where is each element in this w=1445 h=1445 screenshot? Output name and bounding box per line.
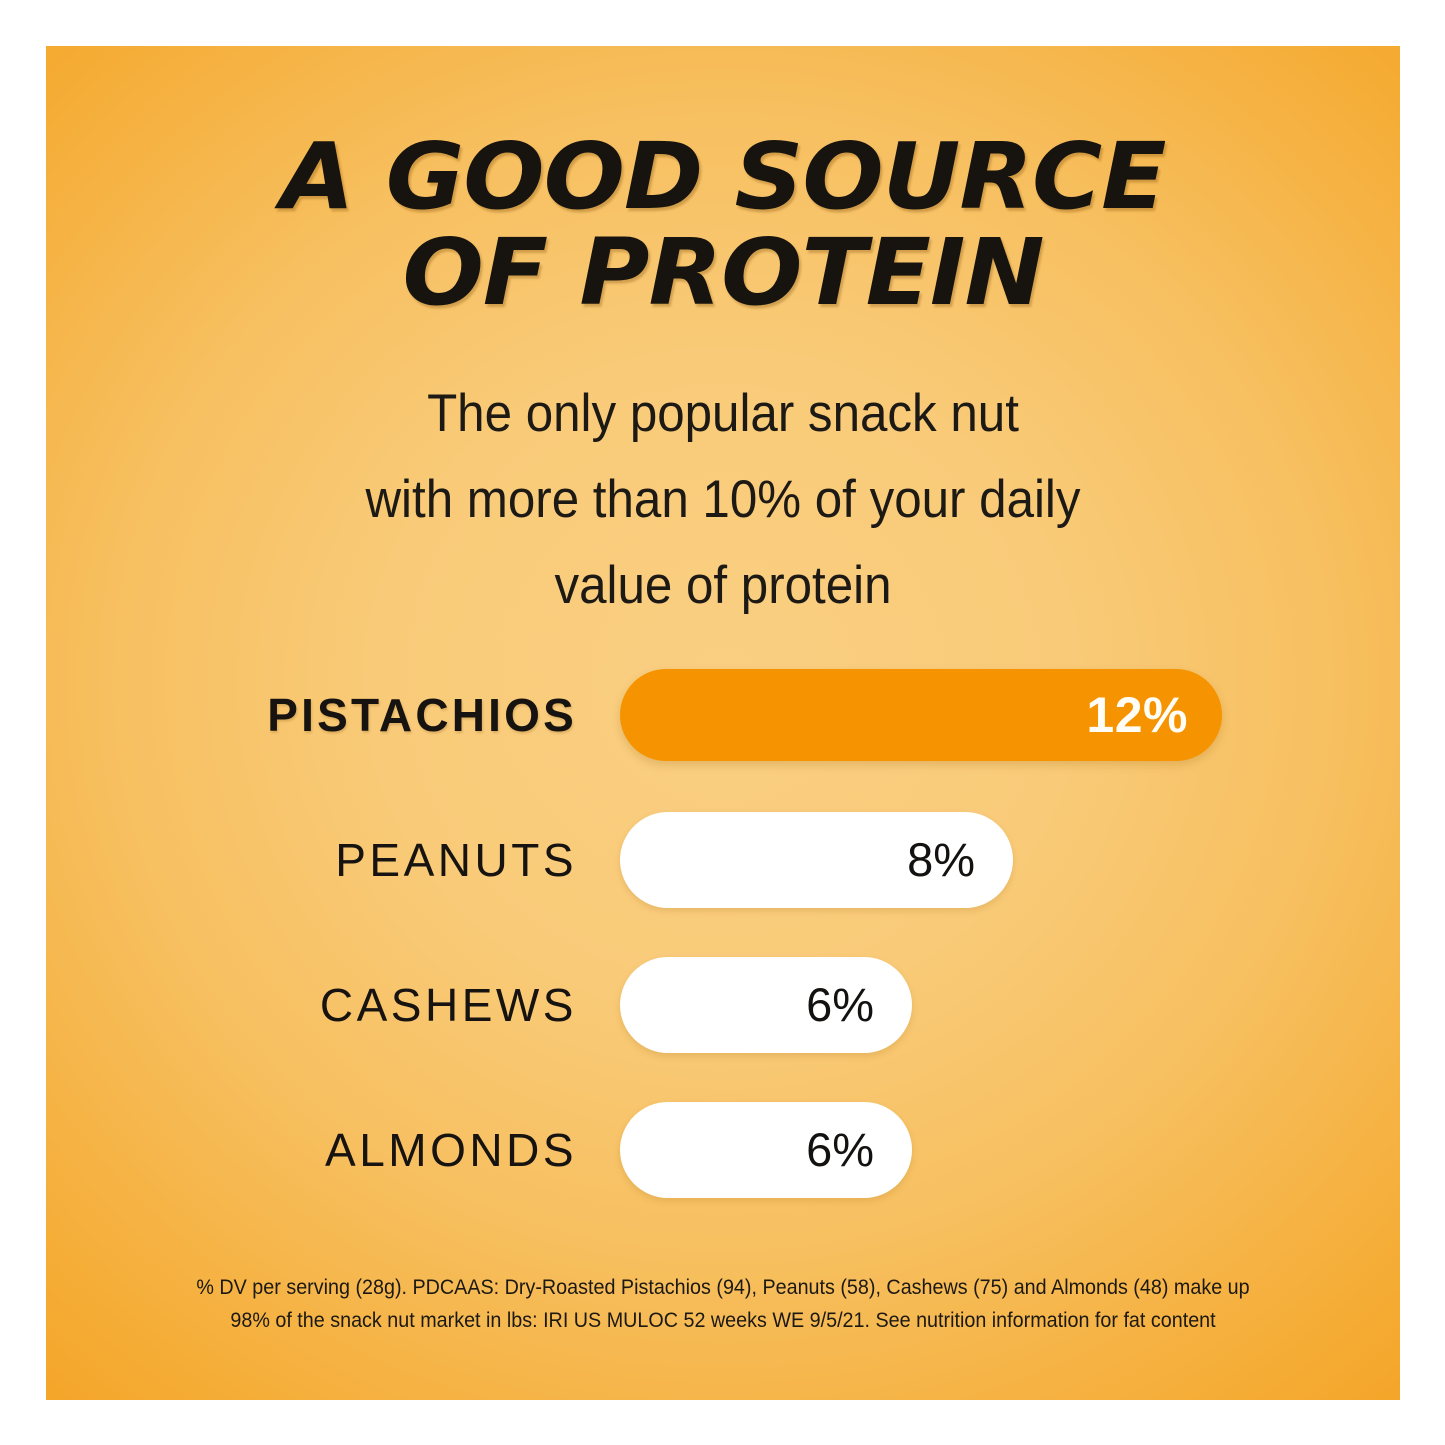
bar-row: ALMONDS 6% (46, 1077, 1400, 1222)
subtitle-line-2: with more than 10% of your daily (93, 457, 1352, 543)
bar-row: CASHEWS 6% (46, 932, 1400, 1077)
bar-label-pistachios: PISTACHIOS (46, 688, 577, 742)
title-line-1: A GOOD SOURCE (46, 129, 1400, 225)
title-line-2: OF PROTEIN (46, 225, 1400, 321)
bar-track-almonds: 6% (620, 1102, 912, 1198)
subtitle-line-1: The only popular snack nut (93, 371, 1352, 457)
footnote: % DV per serving (28g). PDCAAS: Dry-Roas… (46, 1271, 1400, 1337)
bar-track-peanuts: 8% (620, 812, 1013, 908)
bar-label-almonds: ALMONDS (46, 1123, 577, 1177)
bar-row: PISTACHIOS 12% (46, 642, 1400, 787)
bar-label-cashews: CASHEWS (46, 978, 577, 1032)
page-title: A GOOD SOURCE OF PROTEIN (46, 129, 1400, 321)
bar-value-peanuts: 8% (907, 832, 1013, 887)
bar-track-pistachios: 12% (620, 669, 1222, 761)
footnote-line-1: % DV per serving (28g). PDCAAS: Dry-Roas… (87, 1271, 1360, 1304)
bar-value-pistachios: 12% (1086, 686, 1222, 744)
bar-label-peanuts: PEANUTS (46, 833, 577, 887)
bar-value-almonds: 6% (806, 1122, 912, 1177)
orange-panel: A GOOD SOURCE OF PROTEIN The only popula… (46, 46, 1400, 1400)
bar-row: PEANUTS 8% (46, 787, 1400, 932)
infographic-canvas: A GOOD SOURCE OF PROTEIN The only popula… (0, 0, 1445, 1445)
bar-track-cashews: 6% (620, 957, 912, 1053)
bar-value-cashews: 6% (806, 977, 912, 1032)
protein-bar-chart: PISTACHIOS 12% PEANUTS 8% CASHEWS 6% ALM… (46, 642, 1400, 1222)
footnote-line-2: 98% of the snack nut market in lbs: IRI … (87, 1304, 1360, 1337)
subtitle: The only popular snack nut with more tha… (46, 371, 1400, 629)
subtitle-line-3: value of protein (93, 543, 1352, 629)
